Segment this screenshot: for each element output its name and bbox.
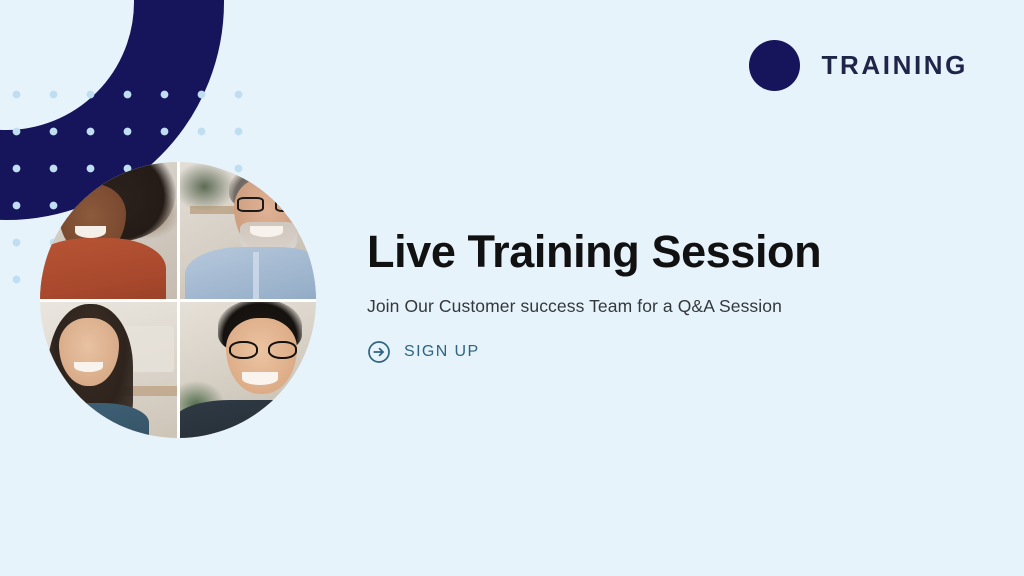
video-call-participants-collage (40, 162, 316, 438)
participant-tile-3 (40, 302, 177, 439)
page-title: Live Training Session (367, 228, 907, 277)
sign-up-button[interactable]: SIGN UP (367, 340, 480, 364)
sign-up-label: SIGN UP (404, 343, 480, 361)
participant-tile-1 (40, 162, 177, 299)
participant-tile-4 (180, 302, 317, 439)
arrow-circle-right-icon (367, 340, 391, 364)
participant-tile-2 (180, 162, 317, 299)
page-subtitle: Join Our Customer success Team for a Q&A… (367, 296, 907, 317)
hero-copy: Live Training Session Join Our Customer … (367, 228, 907, 369)
circle-logo-mark (749, 40, 800, 91)
brand-lockup: TRAINING (749, 40, 968, 91)
brand-name: TRAINING (822, 50, 968, 81)
promo-banner: TRAINING Live Training Session Join Our … (0, 0, 1024, 576)
